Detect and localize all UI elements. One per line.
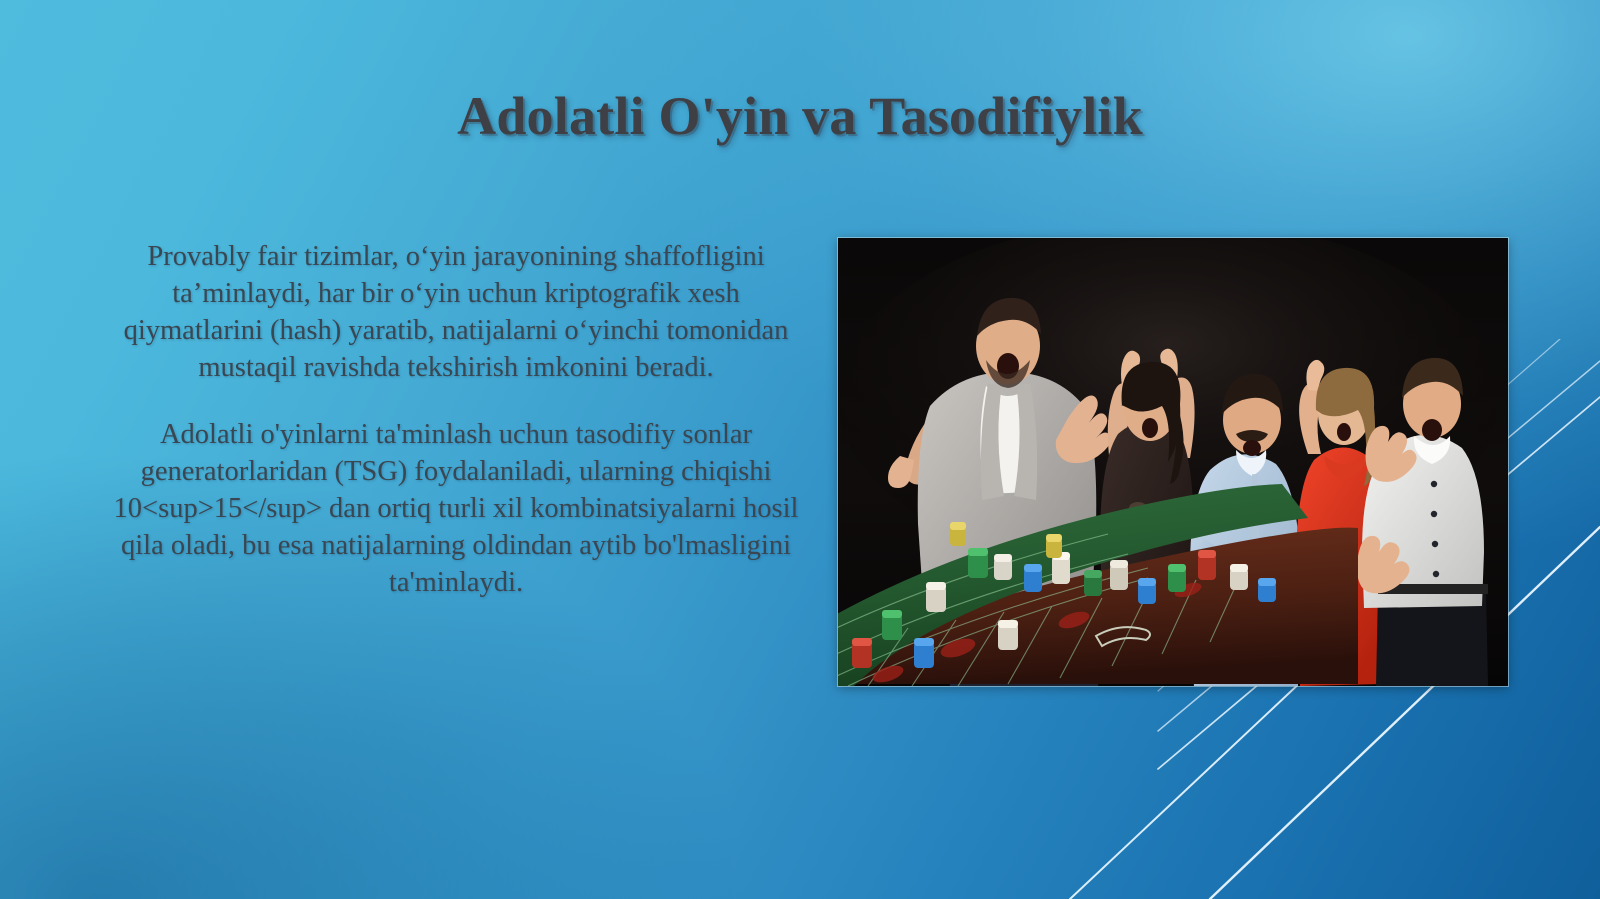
body-paragraph-1: Provably fair tizimlar, o‘yin jarayonini… bbox=[100, 238, 812, 386]
slide-canvas: Adolatli O'yin va Tasodifiylik Provably … bbox=[0, 0, 1600, 899]
body-text-column: Provably fair tizimlar, o‘yin jarayonini… bbox=[100, 238, 812, 601]
casino-photo bbox=[838, 238, 1508, 686]
slide-title: Adolatli O'yin va Tasodifiylik bbox=[0, 88, 1600, 145]
body-paragraph-2: Adolatli o'yinlarni ta'minlash uchun tas… bbox=[100, 416, 812, 601]
